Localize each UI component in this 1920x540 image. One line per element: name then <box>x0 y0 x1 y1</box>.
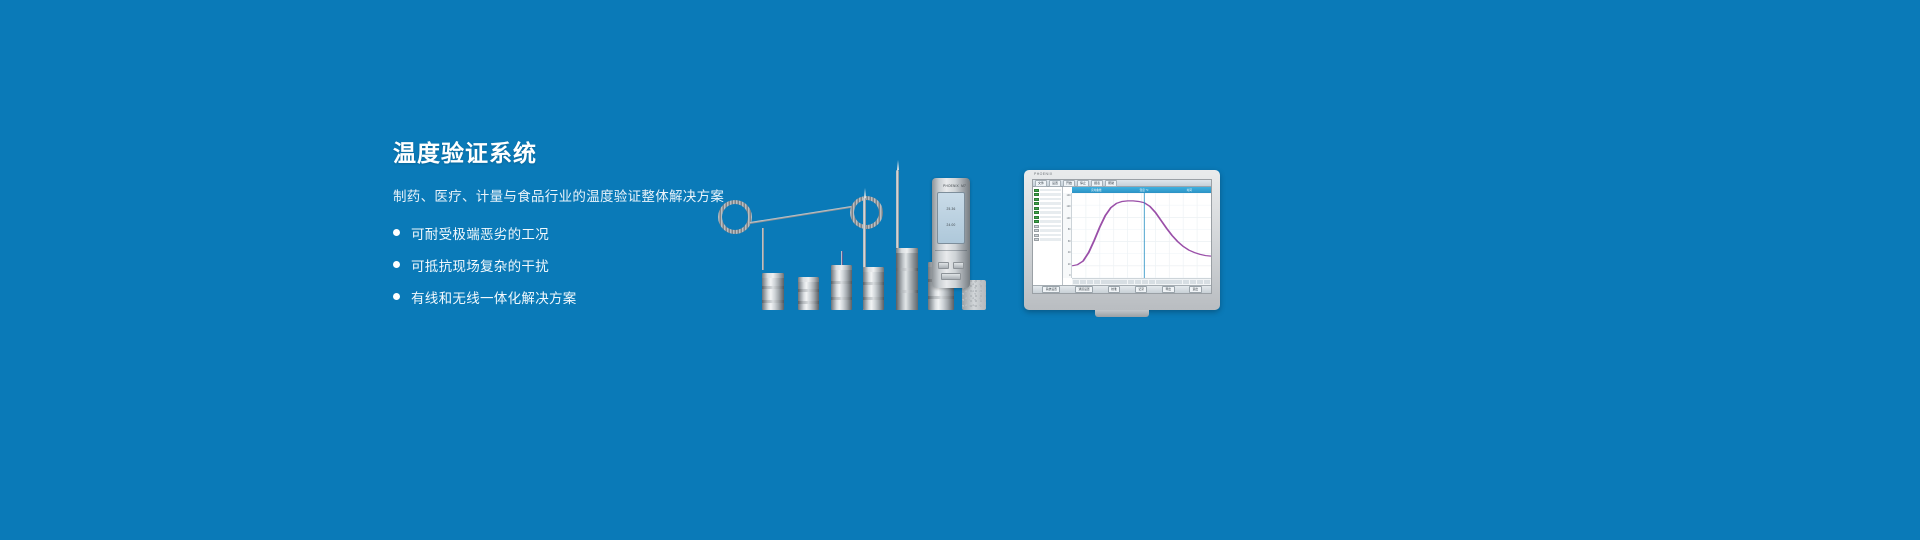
y-tick: 100 <box>1067 217 1072 220</box>
handheld-key-nav[interactable] <box>941 273 961 280</box>
monitor-toolbar: 文件 设置 开始 停止 报表 帮助 <box>1033 180 1211 187</box>
x-tick <box>1101 280 1107 284</box>
coiled-probe-left-icon <box>718 200 752 234</box>
channel-row[interactable] <box>1034 229 1061 233</box>
channel-row[interactable] <box>1034 215 1061 219</box>
chart-gridlines <box>1072 193 1211 278</box>
y-tick: 120 <box>1067 205 1072 208</box>
toolbar-tab[interactable]: 帮助 <box>1105 180 1117 187</box>
logger-band <box>863 297 884 300</box>
monitor-body: 实时曲线 温度 ℃ 时间 140 120 100 80 60 40 20 <box>1033 187 1211 285</box>
monitor-stand <box>1095 310 1149 317</box>
handheld-reader[interactable]: PHOENIX M7 25.36 24.00 <box>932 178 970 288</box>
x-tick <box>1149 280 1155 284</box>
logger-cap <box>762 273 784 278</box>
logger-cap <box>896 248 918 253</box>
feature-text: 可抵抗现场复杂的干扰 <box>411 255 549 275</box>
channel-toggle-icon[interactable] <box>1034 202 1039 205</box>
channel-label <box>1040 234 1061 237</box>
monitor-screen: 文件 设置 开始 停止 报表 帮助 <box>1032 179 1212 294</box>
bullet-dot-icon <box>393 261 400 268</box>
channel-row[interactable] <box>1034 193 1061 197</box>
footer-button[interactable]: 系统设置 <box>1042 286 1060 294</box>
footer-button[interactable]: 退出 <box>1189 286 1202 294</box>
handheld-screen: 25.36 24.00 <box>937 192 964 244</box>
channel-row[interactable] <box>1034 197 1061 201</box>
channel-label <box>1040 202 1061 205</box>
temperature-curve <box>1072 193 1211 278</box>
channel-row[interactable] <box>1034 188 1061 192</box>
bullet-dot-icon <box>393 229 400 236</box>
logger-band <box>798 289 819 292</box>
channel-toggle-icon[interactable] <box>1034 193 1039 196</box>
channel-row[interactable] <box>1034 224 1061 228</box>
channel-row[interactable] <box>1034 206 1061 210</box>
feature-text: 可耐受极端恶劣的工况 <box>411 223 549 243</box>
channel-label <box>1040 198 1061 201</box>
channel-toggle-icon[interactable] <box>1034 225 1039 228</box>
feature-text: 有线和无线一体化解决方案 <box>411 287 577 307</box>
toolbar-tab[interactable]: 文件 <box>1035 180 1047 187</box>
x-tick <box>1114 280 1120 284</box>
logger-band <box>762 286 784 289</box>
handheld-key-back[interactable] <box>953 262 964 269</box>
channel-label <box>1040 216 1061 219</box>
toolbar-tab[interactable]: 开始 <box>1063 180 1075 187</box>
x-tick <box>1121 280 1127 284</box>
channel-label <box>1040 225 1061 228</box>
logger-band <box>831 281 852 284</box>
channel-toggle-icon[interactable] <box>1034 238 1039 241</box>
validation-monitor: PHOENIX 文件 设置 开始 停止 报表 帮助 <box>1024 170 1220 310</box>
handheld-reading-2: 24.00 <box>938 223 963 227</box>
channel-row[interactable] <box>1034 233 1061 237</box>
footer-button[interactable]: 校准 <box>1108 286 1121 294</box>
logger-band <box>798 301 819 304</box>
handheld-divider <box>935 250 967 251</box>
footer-button[interactable]: 导出 <box>1162 286 1175 294</box>
product-image-group: PHOENIX M7 25.36 24.00 PHOENIX 文件 设置 开始 … <box>700 100 1220 310</box>
channel-toggle-icon[interactable] <box>1034 198 1039 201</box>
channel-row[interactable] <box>1034 220 1061 224</box>
x-tick <box>1162 280 1168 284</box>
y-tick: 80 <box>1068 228 1071 231</box>
x-tick <box>1190 280 1196 284</box>
logger-band <box>863 282 884 285</box>
x-tick <box>1176 280 1182 284</box>
logger-cap <box>798 277 819 282</box>
probe-cable-left <box>750 206 854 224</box>
logger-medium-2 <box>863 267 884 310</box>
y-tick: 0 <box>1069 274 1071 277</box>
x-tick <box>1183 280 1189 284</box>
y-tick: 140 <box>1067 194 1072 197</box>
chart-plot-area <box>1072 193 1211 278</box>
x-tick <box>1107 280 1113 284</box>
channel-toggle-icon[interactable] <box>1034 216 1039 219</box>
logger-band <box>928 296 954 299</box>
logger-small-2 <box>798 277 819 310</box>
chart-y-axis: 140 120 100 80 60 40 20 0 <box>1063 193 1072 278</box>
logger-cap <box>863 267 884 272</box>
toolbar-tab[interactable]: 设置 <box>1049 180 1061 187</box>
channel-label <box>1040 207 1061 210</box>
x-tick <box>1156 280 1162 284</box>
channel-row[interactable] <box>1034 202 1061 206</box>
x-tick <box>1073 280 1079 284</box>
handheld-key-confirm[interactable] <box>938 262 949 269</box>
y-tick: 20 <box>1068 263 1071 266</box>
channel-label <box>1040 229 1061 232</box>
footer-button[interactable]: 通道设置 <box>1075 286 1093 294</box>
channel-toggle-icon[interactable] <box>1034 234 1039 237</box>
channel-row[interactable] <box>1034 211 1061 215</box>
channel-toggle-icon[interactable] <box>1034 207 1039 210</box>
y-tick: 40 <box>1068 251 1071 254</box>
logger-band <box>762 300 784 303</box>
chart-header-unit: 温度 ℃ <box>1140 188 1149 192</box>
channel-toggle-icon[interactable] <box>1034 211 1039 214</box>
logger-band <box>896 268 918 271</box>
channel-label <box>1040 238 1061 241</box>
handheld-model: M7 <box>954 184 966 188</box>
toolbar-tab[interactable]: 停止 <box>1077 180 1089 187</box>
monitor-footer: 系统设置 通道设置 校准 记录 导出 退出 <box>1033 285 1211 293</box>
logger-stem <box>841 251 843 265</box>
x-tick <box>1135 280 1141 284</box>
channel-label <box>1040 220 1061 223</box>
probe-cable-right <box>762 228 764 270</box>
coiled-probe-right-icon <box>850 196 883 229</box>
logger-cap <box>831 265 852 270</box>
logger-medium-1 <box>831 265 852 310</box>
chart-header-title: 实时曲线 <box>1091 188 1101 192</box>
bullet-dot-icon <box>393 293 400 300</box>
monitor-brand: PHOENIX <box>1034 172 1053 176</box>
channel-toggle-icon[interactable] <box>1034 189 1039 192</box>
hero-banner: 温度验证系统 制药、医疗、计量与食品行业的温度验证整体解决方案 可耐受极端恶劣的… <box>0 0 1920 540</box>
logger-band <box>896 290 918 293</box>
x-tick <box>1080 280 1086 284</box>
x-tick <box>1204 280 1210 284</box>
y-tick: 60 <box>1068 240 1071 243</box>
logger-tall <box>896 248 918 310</box>
x-tick <box>1169 280 1175 284</box>
channel-label <box>1040 193 1061 196</box>
logger-band <box>831 297 852 300</box>
temperature-chart: 实时曲线 温度 ℃ 时间 140 120 100 80 60 40 20 <box>1063 187 1211 285</box>
x-tick <box>1142 280 1148 284</box>
channel-row[interactable] <box>1034 238 1061 242</box>
x-tick <box>1094 280 1100 284</box>
logger-small-1 <box>762 273 784 310</box>
chart-header-time: 时间 <box>1187 188 1192 192</box>
channel-toggle-icon[interactable] <box>1034 220 1039 223</box>
footer-button[interactable]: 记录 <box>1135 286 1148 294</box>
x-tick <box>1087 280 1093 284</box>
toolbar-tab[interactable]: 报表 <box>1091 180 1103 187</box>
channel-list <box>1033 187 1063 285</box>
channel-label <box>1040 189 1061 192</box>
chart-x-axis <box>1072 278 1211 285</box>
handheld-reading-1: 25.36 <box>938 207 963 211</box>
channel-toggle-icon[interactable] <box>1034 229 1039 232</box>
x-tick <box>1197 280 1203 284</box>
channel-label <box>1040 211 1061 214</box>
x-tick <box>1128 280 1134 284</box>
